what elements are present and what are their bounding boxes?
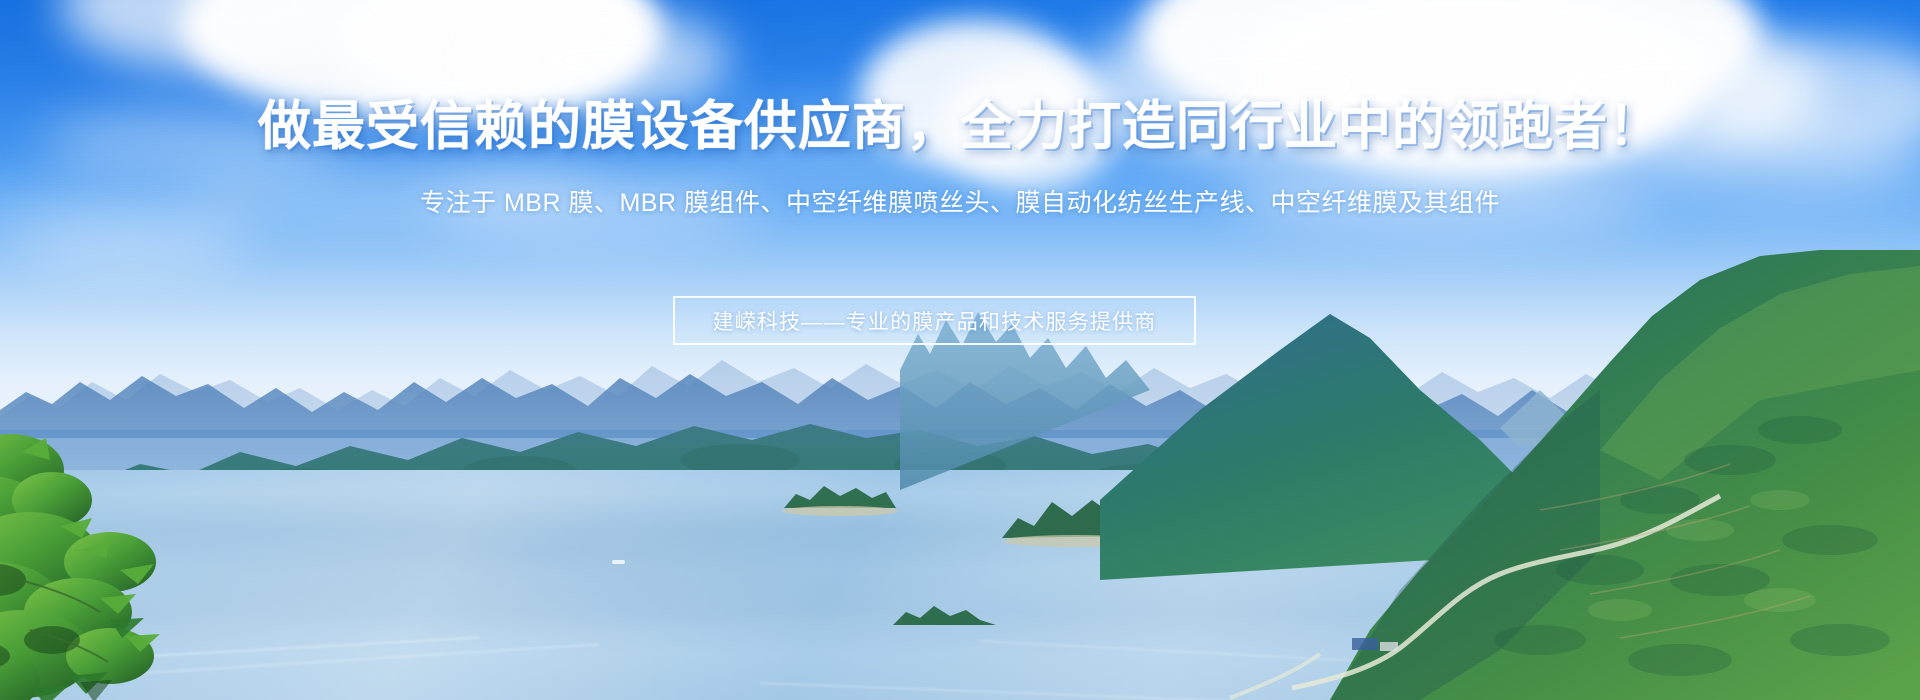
- tagline-text: 建嵘科技——专业的膜产品和技术服务提供商: [713, 306, 1157, 336]
- hero-banner: 做最受信赖的膜设备供应商，全力打造同行业中的领跑者！ 专注于 MBR 膜、MBR…: [0, 0, 1920, 700]
- island-small: [780, 478, 900, 516]
- foreground-tree: [0, 430, 290, 700]
- page-title: 做最受信赖的膜设备供应商，全力打造同行业中的领跑者！: [0, 98, 1920, 155]
- hero-subtitle: 专注于 MBR 膜、MBR 膜组件、中空纤维膜喷丝头、膜自动化纺丝生产线、中空纤…: [0, 186, 1920, 221]
- boat: [612, 560, 625, 564]
- tagline-box: 建嵘科技——专业的膜产品和技术服务提供商: [673, 296, 1196, 345]
